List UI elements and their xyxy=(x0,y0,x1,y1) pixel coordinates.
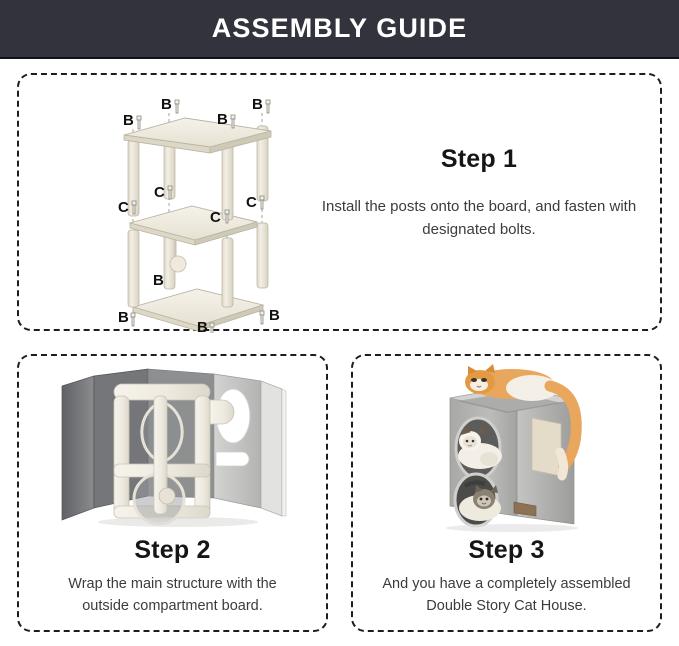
part-label-b: B xyxy=(161,96,172,113)
bolt-icon xyxy=(137,116,141,129)
step-1-heading: Step 1 xyxy=(309,145,649,174)
step-3-panel: Step 3 And you have a completely assembl… xyxy=(351,354,662,632)
part-label-b: B xyxy=(123,112,134,129)
part-label-b: B xyxy=(217,111,228,128)
step-3-body: And you have a completely assembled Doub… xyxy=(379,574,634,618)
step-3-heading: Step 3 xyxy=(468,536,544,565)
middle-shelf xyxy=(130,206,257,245)
page-title: ASSEMBLY GUIDE xyxy=(212,13,467,44)
part-label-b: B xyxy=(269,307,280,324)
step-2-body: Wrap the main structure with the outside… xyxy=(45,574,300,618)
cat-tree-exploded-frame-icon: B B B B C C C C B B B B xyxy=(97,83,297,333)
step-1-panel: B B B B C C C C B B B B Step 1 Install t… xyxy=(17,73,662,331)
part-label-b: B xyxy=(118,309,129,326)
bottom-panel-row: Step 2 Wrap the main structure with the … xyxy=(17,354,662,632)
part-label-c: C xyxy=(210,209,221,226)
part-label-c: C xyxy=(154,184,165,201)
bolt-icon xyxy=(231,115,235,128)
step-2-illustration xyxy=(19,356,326,534)
bolt-icon xyxy=(168,186,172,199)
part-label-c: C xyxy=(246,194,257,211)
step-2-panel: Step 2 Wrap the main structure with the … xyxy=(17,354,328,632)
step-1-illustration: B B B B C C C C B B B B xyxy=(97,83,297,333)
part-label-c: C xyxy=(118,199,129,216)
bolt-icon xyxy=(131,313,135,326)
part-label-b: B xyxy=(197,319,208,333)
bolt-icon xyxy=(225,210,229,223)
bolt-icon xyxy=(175,100,179,113)
part-label-b: B xyxy=(252,96,263,113)
step-1-body: Install the posts onto the board, and fa… xyxy=(309,196,649,241)
bolt-icon xyxy=(210,323,214,333)
page-header: ASSEMBLY GUIDE xyxy=(0,0,679,59)
step-1-text-block: Step 1 Install the posts onto the board,… xyxy=(309,145,649,241)
bolt-icon xyxy=(260,196,264,209)
bolt-icon xyxy=(260,311,264,324)
part-label-b: B xyxy=(153,272,164,289)
bolt-icon xyxy=(266,100,270,113)
finished-cat-house-icon xyxy=(362,356,652,534)
bolt-icon xyxy=(132,201,136,214)
top-board xyxy=(124,118,271,153)
step-2-heading: Step 2 xyxy=(134,536,210,565)
step-3-illustration xyxy=(353,356,660,534)
structure-with-fabric-wrap-icon xyxy=(28,356,318,534)
